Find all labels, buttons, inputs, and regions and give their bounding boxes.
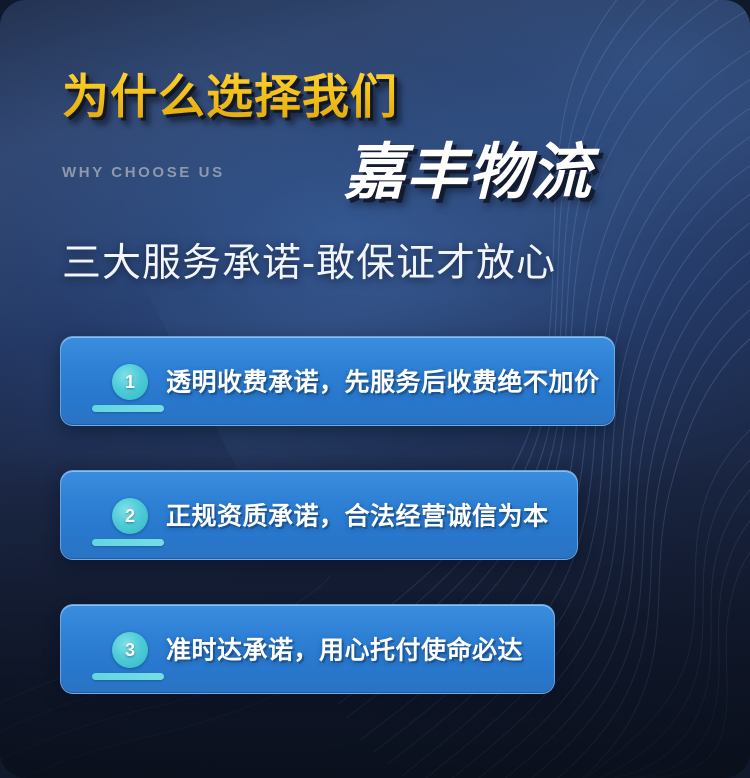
promise-number-badge: 1	[112, 364, 148, 400]
accent-underline-bar	[92, 673, 164, 680]
section-subtitle: 三大服务承诺-敢保证才放心	[62, 232, 556, 288]
promise-number-badge: 3	[112, 632, 148, 668]
promise-card-list: 1 透明收费承诺，先服务后收费绝不加价 2 正规资质承诺，合法经营诚信为本 3 …	[60, 336, 615, 694]
accent-underline-bar	[92, 539, 164, 546]
promise-card: 3 准时达承诺，用心托付使命必达	[60, 604, 555, 694]
page-title: 为什么选择我们	[62, 58, 398, 127]
promise-card: 1 透明收费承诺，先服务后收费绝不加价	[60, 336, 615, 426]
promise-text: 透明收费承诺，先服务后收费绝不加价	[166, 362, 600, 398]
promise-card: 2 正规资质承诺，合法经营诚信为本	[60, 470, 578, 560]
brand-name: 嘉丰物流	[344, 122, 592, 211]
promise-text: 正规资质承诺，合法经营诚信为本	[166, 496, 549, 532]
accent-underline-bar	[92, 405, 164, 412]
page-subtitle-english: WHY CHOOSE US	[62, 164, 225, 181]
promise-text: 准时达承诺，用心托付使命必达	[166, 630, 523, 666]
promise-number-badge: 2	[112, 498, 148, 534]
promo-banner: 为什么选择我们 WHY CHOOSE US 嘉丰物流 三大服务承诺-敢保证才放心…	[0, 0, 750, 778]
